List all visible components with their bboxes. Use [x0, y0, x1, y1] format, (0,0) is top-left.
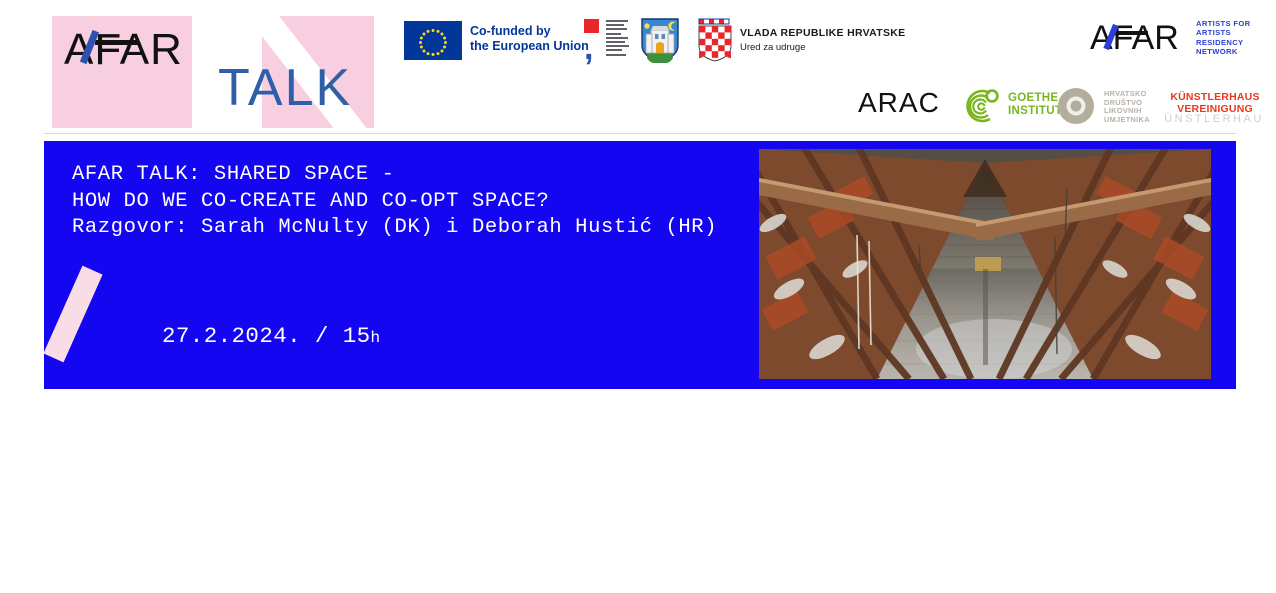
goethe-line1: GOETHE: [1008, 92, 1062, 105]
event-heading: AFAR TALK: SHARED SPACE - HOW DO WE CO-C…: [72, 162, 717, 242]
zagreb-coat-of-arms-icon: [640, 17, 680, 63]
event-venue-line1: Akademija likovnih umjetnosti,: [162, 413, 579, 443]
goethe-institut-logo-icon: [960, 85, 1002, 127]
afar-network-sub-line3: RESIDENCY: [1196, 38, 1250, 47]
afar-logo-f-bar: [95, 40, 139, 45]
event-venue-line2: Ul. Rudolfa Kolaka 12: [162, 503, 579, 533]
hdlu-line4: UMJETNIKA: [1104, 116, 1150, 125]
kunstlerhaus-line1: KÜNSTLERHAUS: [1164, 92, 1266, 104]
hdlu-logo-icon: [1056, 86, 1096, 126]
kunstlerhaus-watermark: ÜNSTLERHAU: [1152, 113, 1276, 125]
pink-slash-icon: [43, 266, 102, 363]
croatia-government-crest-icon: [697, 18, 733, 62]
poster-root: AFAR TALK: [0, 0, 1276, 408]
event-panel: AFAR TALK: SHARED SPACE - HOW DO WE CO-C…: [44, 141, 1236, 389]
eu-funding-line1: Co-funded by: [470, 24, 589, 39]
talk-logo-text: TALK: [218, 62, 352, 114]
afar-network-sub-line2: ARTISTS: [1196, 28, 1250, 37]
arac-logo-text: ARAC: [858, 88, 940, 118]
ministry-logo-icon: ,: [584, 19, 630, 61]
event-details: 27.2.2024. / 15h Akademija likovnih umje…: [162, 261, 579, 593]
header-logo-bar: AFAR TALK: [0, 0, 1276, 135]
afar-network-subtitle: ARTISTS FOR ARTISTS RESIDENCY NETWORK: [1196, 19, 1250, 57]
afar-network-sub-line4: NETWORK: [1196, 47, 1250, 56]
goethe-line2: INSTITUT: [1008, 105, 1062, 118]
event-datetime: 27.2.2024. / 15h: [162, 321, 579, 353]
eu-funding-line2: the European Union: [470, 39, 589, 54]
afar-network-logo-text: AFAR: [1090, 20, 1179, 56]
afar-network-f-bar: [1114, 31, 1148, 35]
goethe-institut-text: GOETHE INSTITUT: [1008, 92, 1062, 118]
attic-photo: [759, 149, 1211, 379]
kunstlerhaus-text: KÜNSTLERHAUS VEREINIGUNG: [1164, 92, 1266, 115]
header-divider: [44, 133, 1236, 134]
eu-funding-text: Co-funded by the European Union: [470, 24, 589, 54]
vlada-subtitle: Ured za udruge: [740, 42, 805, 53]
event-time-unit: h: [371, 329, 381, 347]
hdlu-text: HRVATSKO DRUŠTVO LIKOVNIH UMJETNIKA: [1104, 90, 1150, 124]
event-date: 27.2.2024. / 15: [162, 323, 371, 349]
afar-network-sub-line1: ARTISTS FOR: [1196, 19, 1250, 28]
afar-logo-text: AFAR: [64, 26, 184, 74]
vlada-title: VLADA REPUBLIKE HRVATSKE: [740, 27, 906, 39]
eu-flag-icon: [404, 21, 462, 60]
